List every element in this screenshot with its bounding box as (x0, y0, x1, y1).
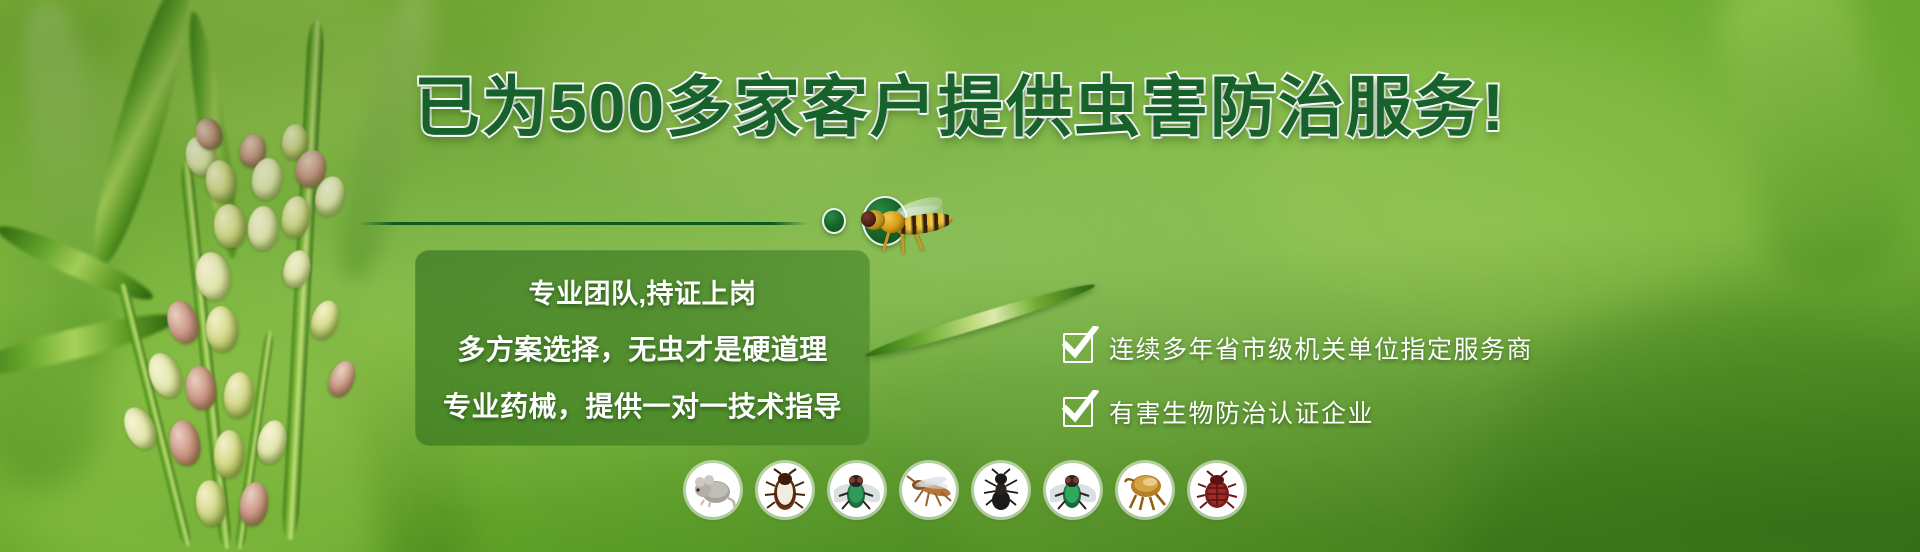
greenbottle-fly-icon[interactable] (1046, 463, 1100, 517)
pest-icon-strip (686, 463, 1244, 517)
checklist-item-label: 连续多年省市级机关单位指定服务商 (1109, 330, 1533, 366)
claims-panel-text: 专业团队,持证上岗 多方案选择，无虫才是硬道理 专业药械，提供一对一技术指导 (415, 250, 870, 446)
checkbox-checked-icon (1063, 333, 1093, 363)
fly-icon[interactable] (830, 463, 884, 517)
claim-line-2: 多方案选择，无虫才是硬道理 (457, 328, 828, 368)
mouse-icon[interactable] (686, 463, 740, 517)
claim-line-1: 专业团队,持证上岗 (528, 272, 756, 311)
banner-headline-text: 已为500多家客户提供虫害防治服务! (414, 70, 1506, 144)
decorative-small-dot-icon (822, 208, 846, 234)
certification-checklist: 连续多年省市级机关单位指定服务商 有害生物防治认证企业 (1063, 330, 1533, 458)
checklist-item-label: 有害生物防治认证企业 (1109, 394, 1374, 430)
banner-headline: 已为500多家客户提供虫害防治服务! (0, 74, 1920, 140)
fly-eye (861, 211, 876, 227)
promo-banner: 已为500多家客户提供虫害防治服务! 专业团队,持证上岗 多方案选择，无虫才是硬… (0, 0, 1920, 552)
claim-line-3: 专业药械，提供一对一技术指导 (443, 385, 842, 425)
decorative-rule (358, 222, 808, 225)
checklist-item: 连续多年省市级机关单位指定服务商 (1063, 330, 1533, 366)
cockroach-icon[interactable] (758, 463, 812, 517)
flea-icon[interactable] (1118, 463, 1172, 517)
bedbug-icon[interactable] (1190, 463, 1244, 517)
checklist-item: 有害生物防治认证企业 (1063, 394, 1533, 430)
mosquito-icon[interactable] (902, 463, 956, 517)
ant-icon[interactable] (974, 463, 1028, 517)
hoverfly-image (855, 198, 955, 252)
checkbox-checked-icon (1063, 397, 1093, 427)
